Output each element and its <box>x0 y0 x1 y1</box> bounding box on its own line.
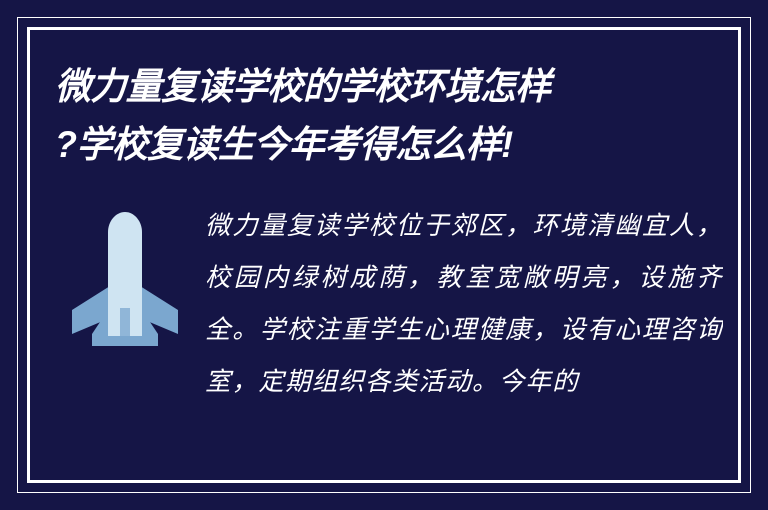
title-line-1: 微力量复读学校的学校环境怎样 <box>55 58 695 116</box>
poster-title: 微力量复读学校的学校环境怎样 ?学校复读生今年考得怎么样! <box>55 58 715 174</box>
title-line-2: ?学校复读生今年考得怎么样! <box>55 116 695 174</box>
poster-content: 微力量复读学校位于郊区，环境清幽宜人，校园内绿树成荫，教室宽敞明亮，设施齐全。学… <box>55 200 723 408</box>
illustration-container <box>55 200 195 346</box>
poster-canvas: 微力量复读学校的学校环境怎样 ?学校复读生今年考得怎么样! 微力量复读学校位于郊… <box>0 0 768 510</box>
body-paragraph: 微力量复读学校位于郊区，环境清幽宜人，校园内绿树成荫，教室宽敞明亮，设施齐全。学… <box>195 200 723 408</box>
airplane-icon <box>62 212 188 346</box>
